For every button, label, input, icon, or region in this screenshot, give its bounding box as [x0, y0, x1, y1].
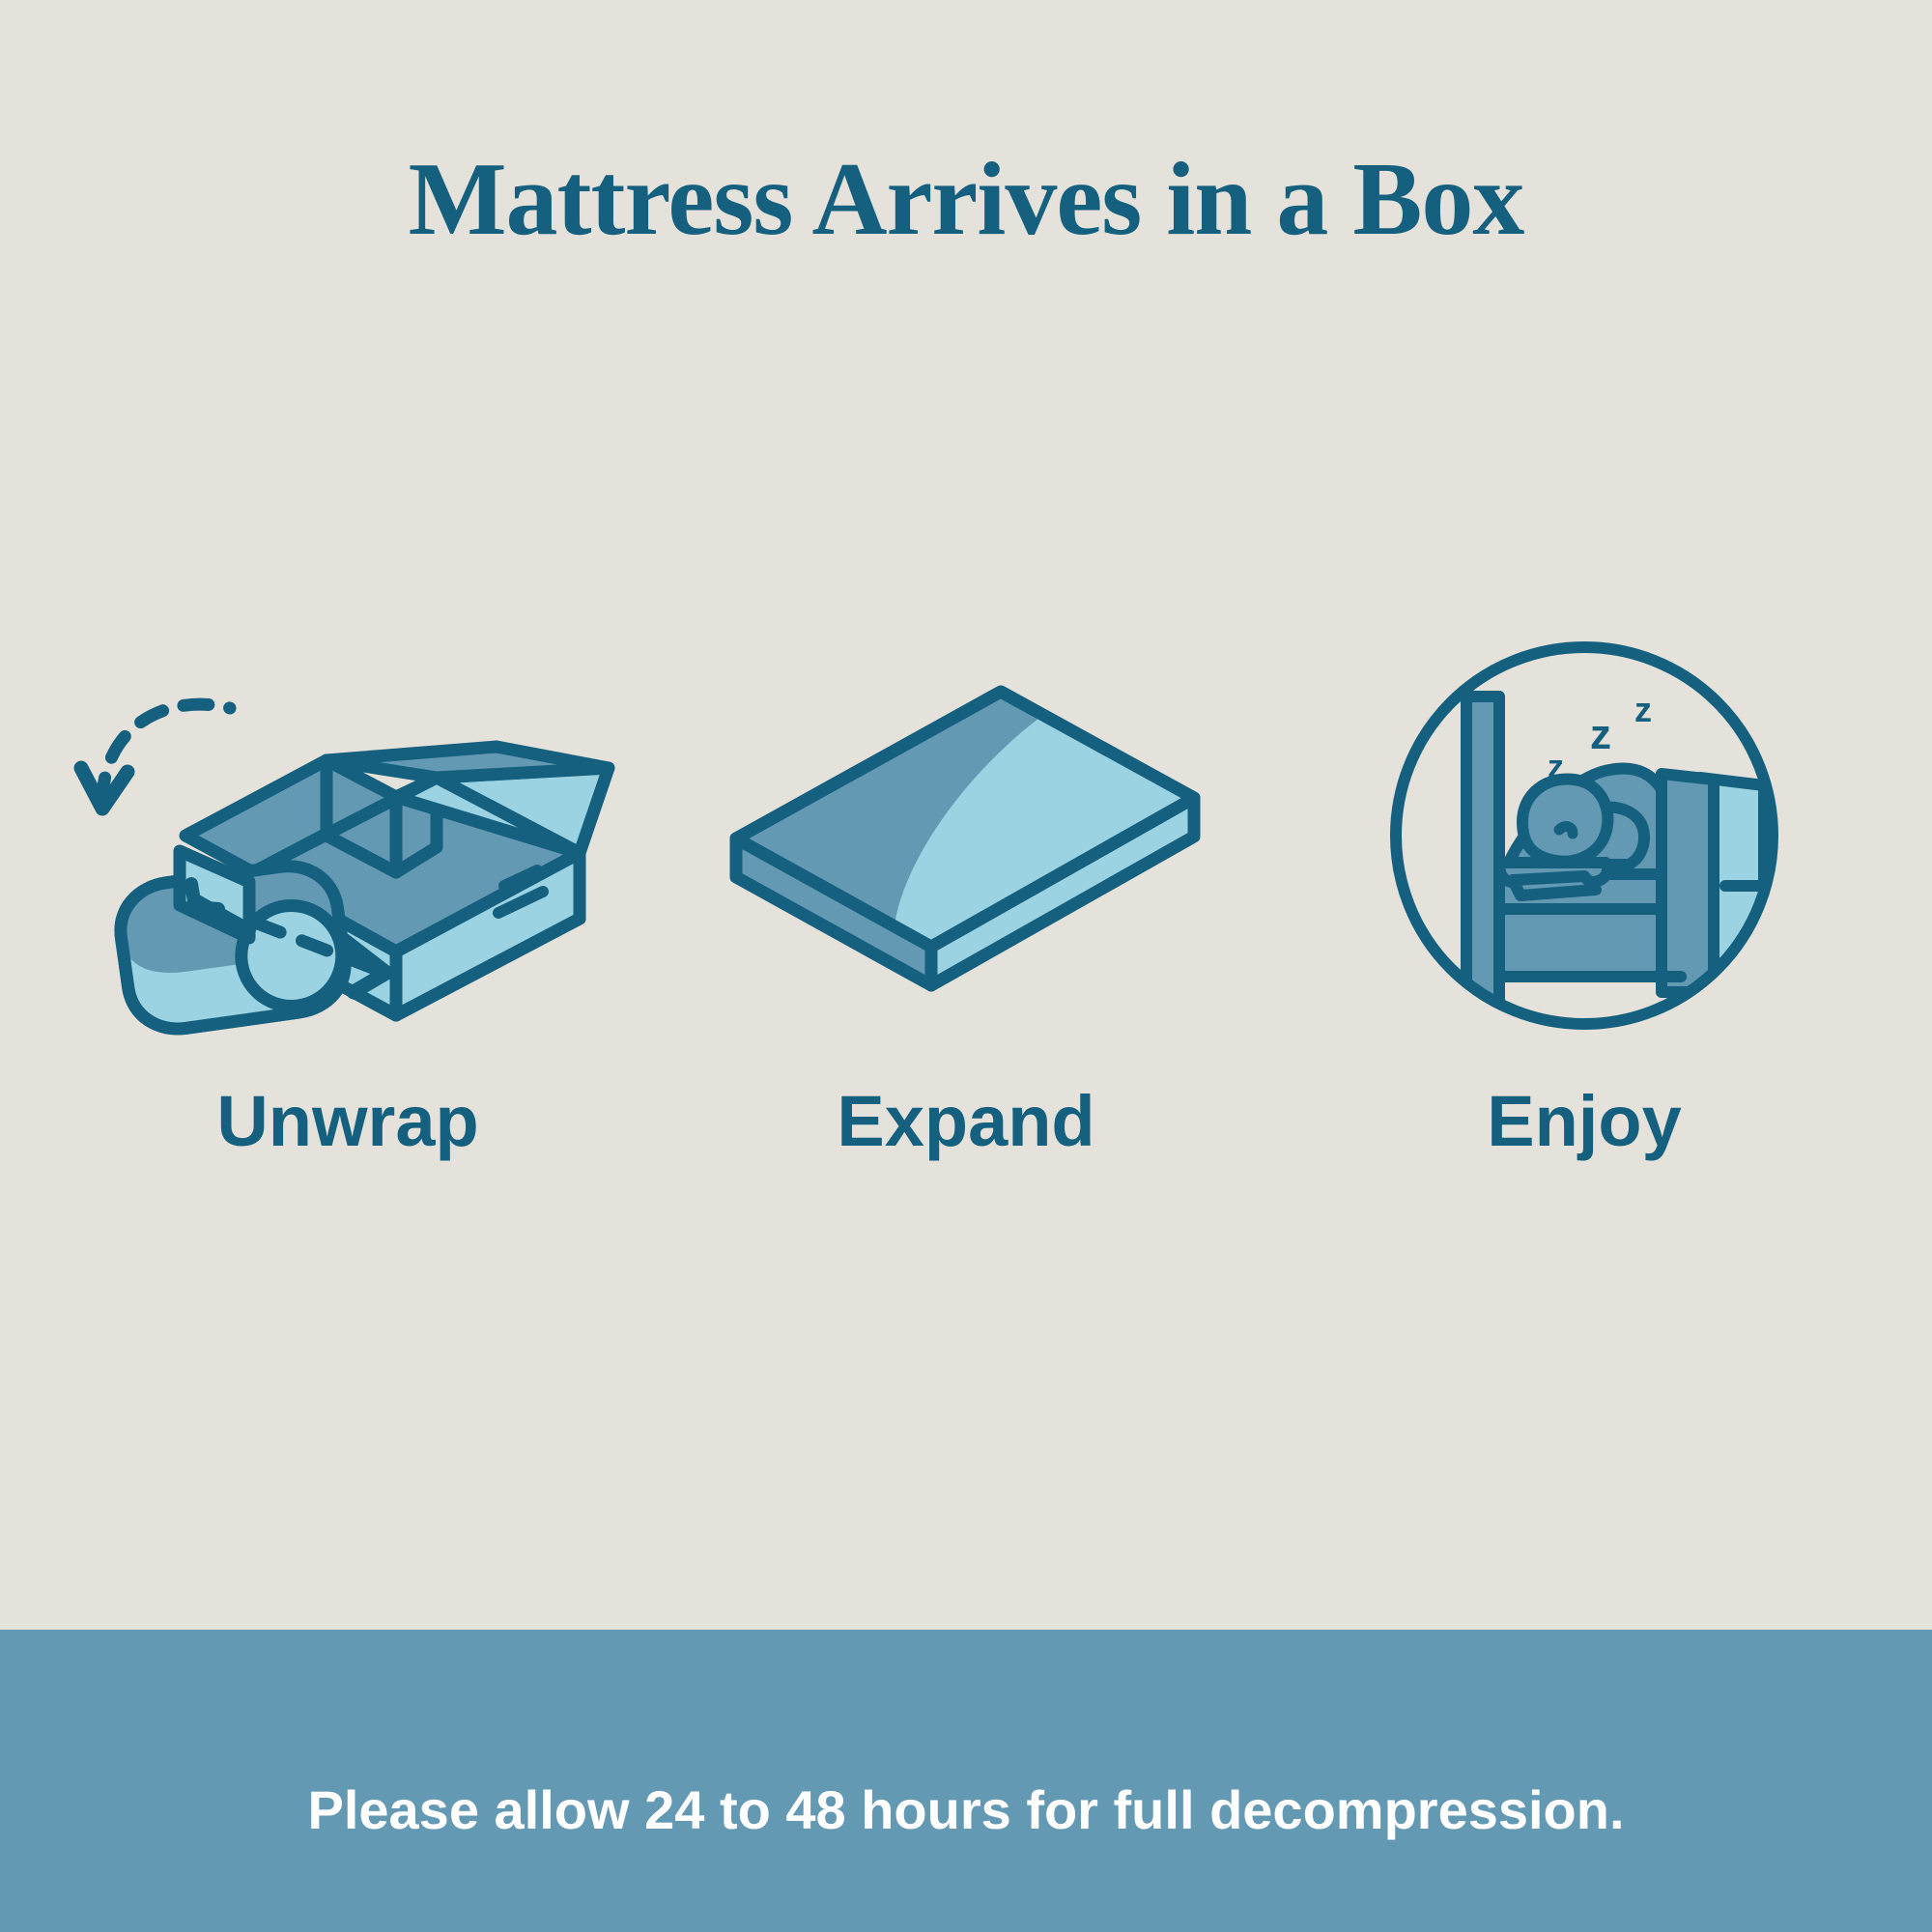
sleep-z-medium: z: [1590, 711, 1611, 758]
step-unwrap-label: Unwrap: [216, 1086, 478, 1157]
unwrap-illustration: [58, 609, 638, 1063]
dashed-curved-arrow: [81, 704, 230, 809]
step-enjoy-label: Enjoy: [1487, 1086, 1681, 1157]
expand-illustration: [676, 609, 1256, 1063]
step-unwrap: Unwrap: [58, 609, 638, 1157]
footer-note: Please allow 24 to 48 hours for full dec…: [307, 1719, 1624, 1842]
flat-mattress-slab-icon: [724, 676, 1207, 995]
step-enjoy: z z z Enjoy: [1294, 609, 1874, 1157]
person-sleeping-in-bed-circle-icon: z z z: [1381, 633, 1787, 1038]
step-expand-label: Expand: [837, 1086, 1094, 1157]
bed-footboard: [1662, 774, 1714, 992]
sleep-z-small: z: [1548, 749, 1564, 785]
bed-headboard-post: [1466, 696, 1499, 1006]
enjoy-illustration: z z z: [1294, 609, 1874, 1063]
step-expand: Expand: [676, 609, 1256, 1157]
page-title: Mattress Arrives in a Box: [0, 145, 1932, 254]
infographic-root: Mattress Arrives in a Box: [0, 0, 1932, 1932]
footer-banner: Please allow 24 to 48 hours for full dec…: [0, 1630, 1932, 1932]
box-flap-top-highlight: [327, 747, 609, 778]
sleeper-arm: [1513, 876, 1596, 895]
sleep-z-large: z: [1634, 690, 1652, 729]
steps-row: Unwrap: [58, 609, 1874, 1304]
box-open-with-rolled-mattress-icon: [68, 633, 628, 1038]
sleeper-head: [1522, 779, 1607, 861]
